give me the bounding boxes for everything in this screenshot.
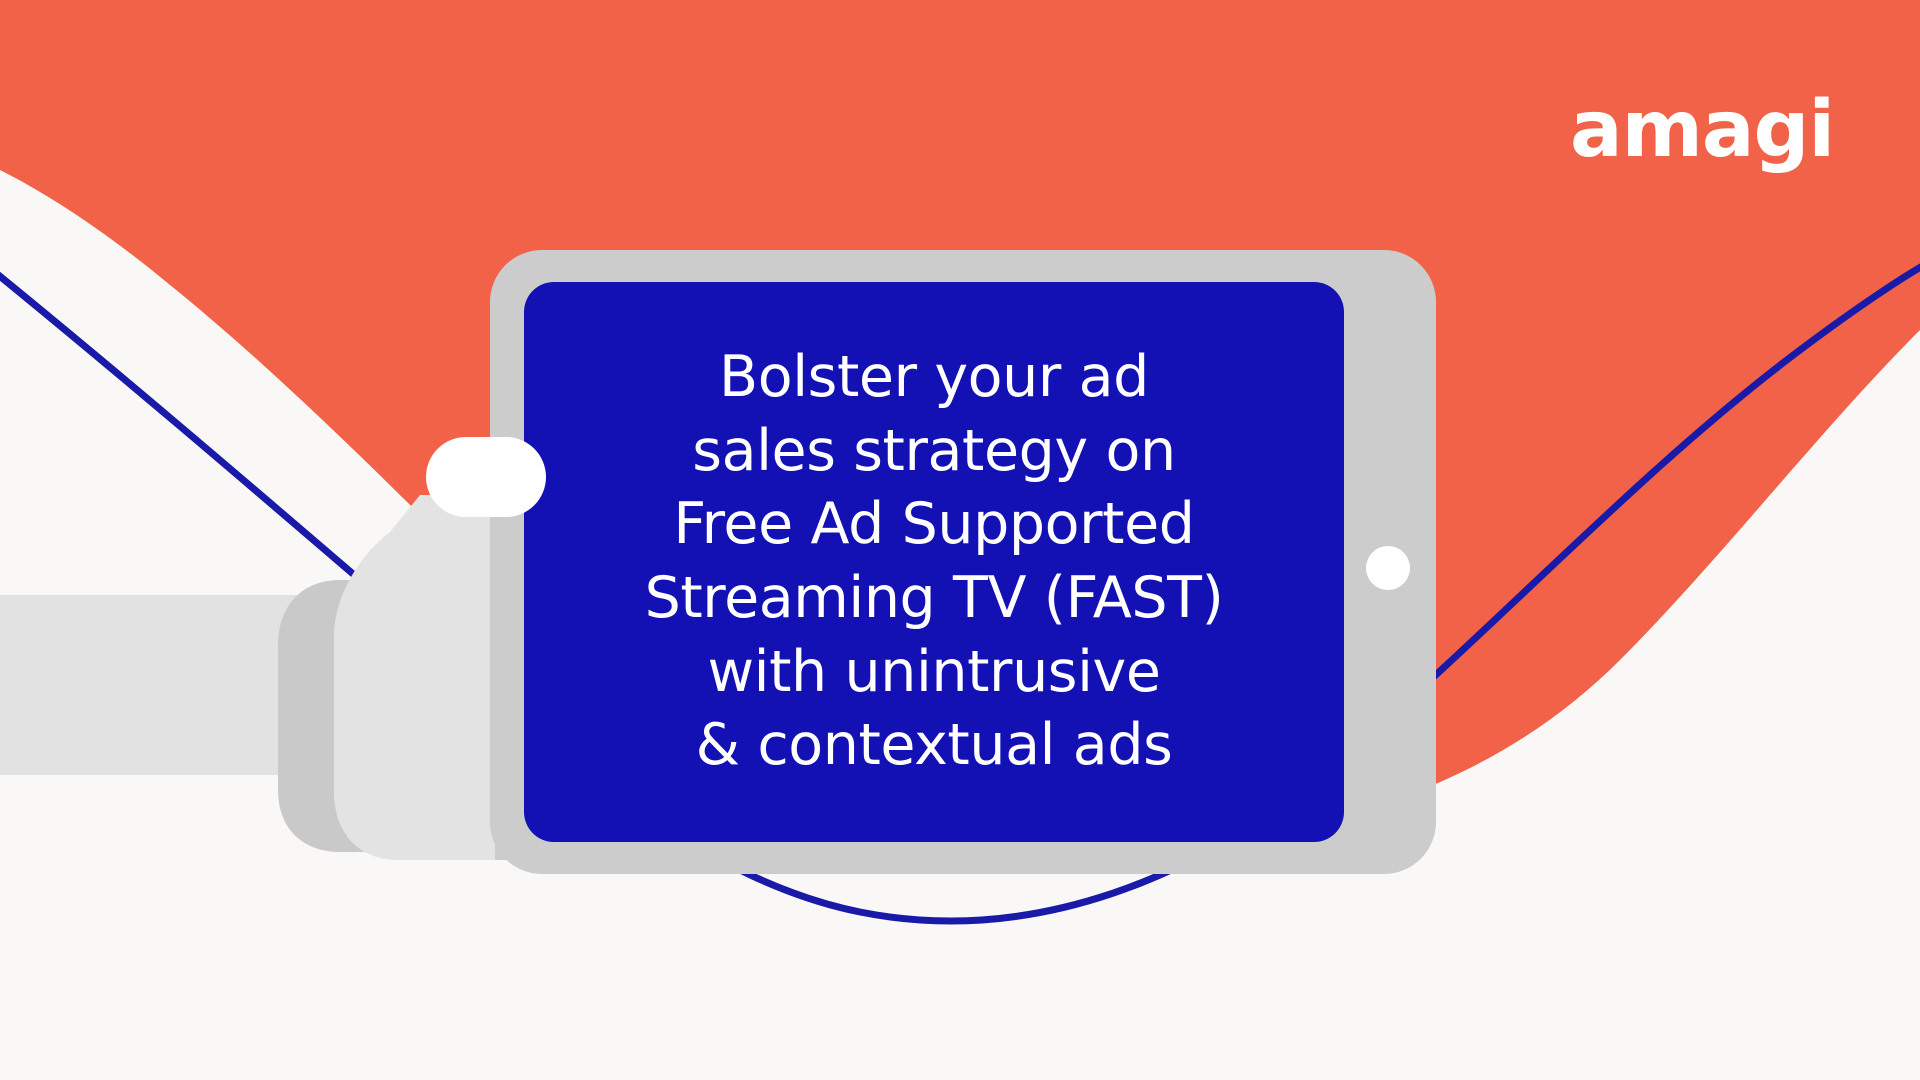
tablet-screen[interactable]: Bolster your ad sales strategy on Free A… <box>524 282 1344 842</box>
amagi-wordmark-text: amagi <box>1570 85 1834 175</box>
thumb-shape <box>426 437 546 517</box>
amagi-logo[interactable]: amagi <box>1570 88 1810 174</box>
screen-headline: Bolster your ad sales strategy on Free A… <box>627 341 1242 782</box>
promo-banner: Bolster your ad sales strategy on Free A… <box>0 0 1920 1080</box>
camera-dot-icon <box>1366 546 1410 590</box>
tablet-device[interactable]: Bolster your ad sales strategy on Free A… <box>490 250 1436 874</box>
amagi-wordmark-icon: amagi <box>1570 88 1810 174</box>
